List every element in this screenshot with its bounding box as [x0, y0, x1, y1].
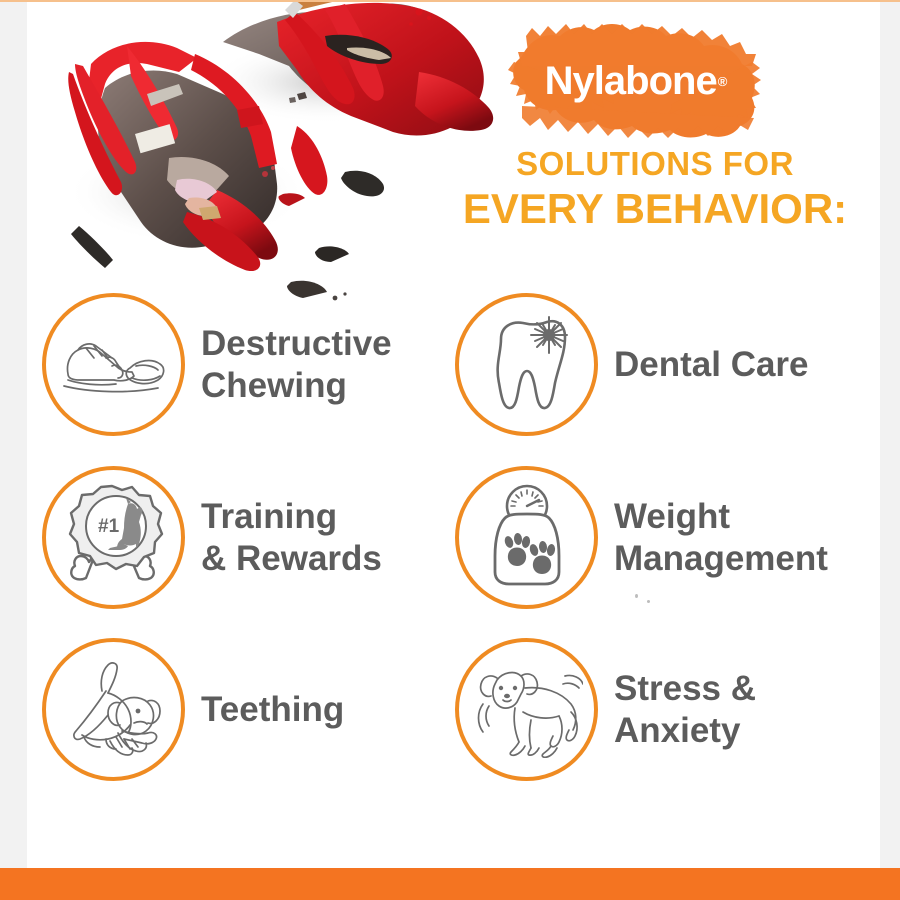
- bottom-orange-band: [0, 868, 900, 900]
- anxious-dog-icon: [471, 662, 583, 758]
- feature-icon-circle: [42, 638, 185, 781]
- feature-teething[interactable]: Teething: [42, 638, 344, 781]
- feature-icon-circle: #1: [42, 466, 185, 609]
- feature-icon-circle: [455, 466, 598, 609]
- headline-line-2: EVERY BEHAVIOR:: [430, 185, 880, 233]
- puppy-chew-toy-icon: [62, 661, 166, 759]
- feature-destructive-chewing[interactable]: Destructive Chewing: [42, 293, 392, 436]
- sparkling-tooth-icon: [479, 313, 575, 417]
- feature-dental-care[interactable]: Dental Care: [455, 293, 809, 436]
- headline-line-1: SOLUTIONS FOR: [430, 145, 880, 183]
- feature-icon-circle: [455, 293, 598, 436]
- brand-name: Nylabone: [545, 59, 717, 104]
- feature-label: Training & Rewards: [201, 496, 382, 580]
- feature-icon-circle: [455, 638, 598, 781]
- poster-canvas: Nylabone® SOLUTIONS FOR EVERY BEHAVIOR:: [0, 0, 900, 900]
- feature-weight-management[interactable]: Weight Management: [455, 466, 828, 609]
- paw-scale-icon: [479, 484, 575, 592]
- hero-image-chewed-shoes: [27, 2, 497, 302]
- feature-training-rewards[interactable]: #1 Training & Rewards: [42, 466, 382, 609]
- feature-label: Stress & Anxiety: [614, 668, 756, 752]
- feature-grid: Destructive Chewing Dental Care: [27, 288, 880, 828]
- badge-rank-text: #1: [98, 516, 120, 537]
- headline-block: SOLUTIONS FOR EVERY BEHAVIOR:: [430, 145, 880, 233]
- award-ribbon-dog-icon: #1: [62, 482, 166, 594]
- feature-label: Teething: [201, 689, 344, 731]
- nylabone-logo: Nylabone®: [508, 22, 763, 140]
- brand-wordmark: Nylabone®: [508, 22, 763, 140]
- feature-icon-circle: [42, 293, 185, 436]
- feature-stress-anxiety[interactable]: Stress & Anxiety: [455, 638, 756, 781]
- feature-label: Weight Management: [614, 496, 828, 580]
- artifact-speck: [635, 594, 638, 598]
- feature-label: Destructive Chewing: [201, 323, 392, 407]
- artifact-speck: [647, 600, 650, 603]
- feature-label: Dental Care: [614, 344, 809, 386]
- chewed-shoe-icon: [60, 328, 168, 402]
- registered-mark: ®: [718, 74, 727, 89]
